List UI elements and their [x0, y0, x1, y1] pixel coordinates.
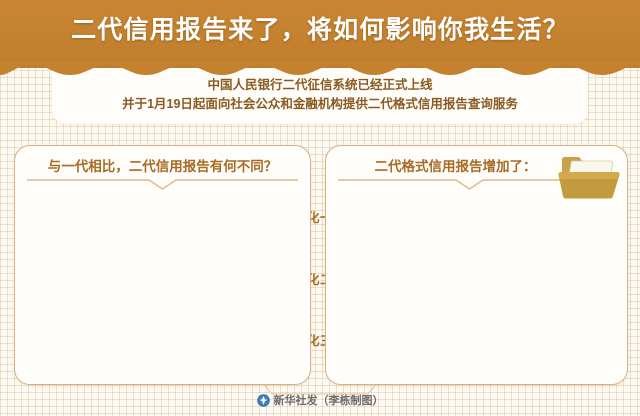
subtitle-line-1: 中国人民银行二代征信系统已经正式上线 — [207, 76, 432, 95]
panel-differences: 与一代相比，二代信用报告有何不同？ — [14, 145, 311, 385]
footer-credit: 新华社发（李栋制图） — [274, 392, 384, 408]
footer: 新华社发（李栋制图） — [0, 392, 640, 408]
subtitle-line-2: 并于1月19日起面向社会公众和金融机构提供二代格式信用报告查询服务 — [122, 95, 518, 114]
page-title: 二代信用报告来了，将如何影响你我生活？ — [0, 10, 640, 46]
infographic-canvas: 二代信用报告来了，将如何影响你我生活？ 中国人民银行二代征信系统已经正式上线 并… — [0, 0, 640, 416]
left-panel-title: 与一代相比，二代信用报告有何不同？ — [15, 155, 310, 175]
xinhua-logo-icon — [257, 394, 270, 407]
banner-scallop-edge — [0, 62, 640, 78]
left-panel-divider — [27, 179, 298, 190]
open-folder-icon — [558, 152, 620, 202]
